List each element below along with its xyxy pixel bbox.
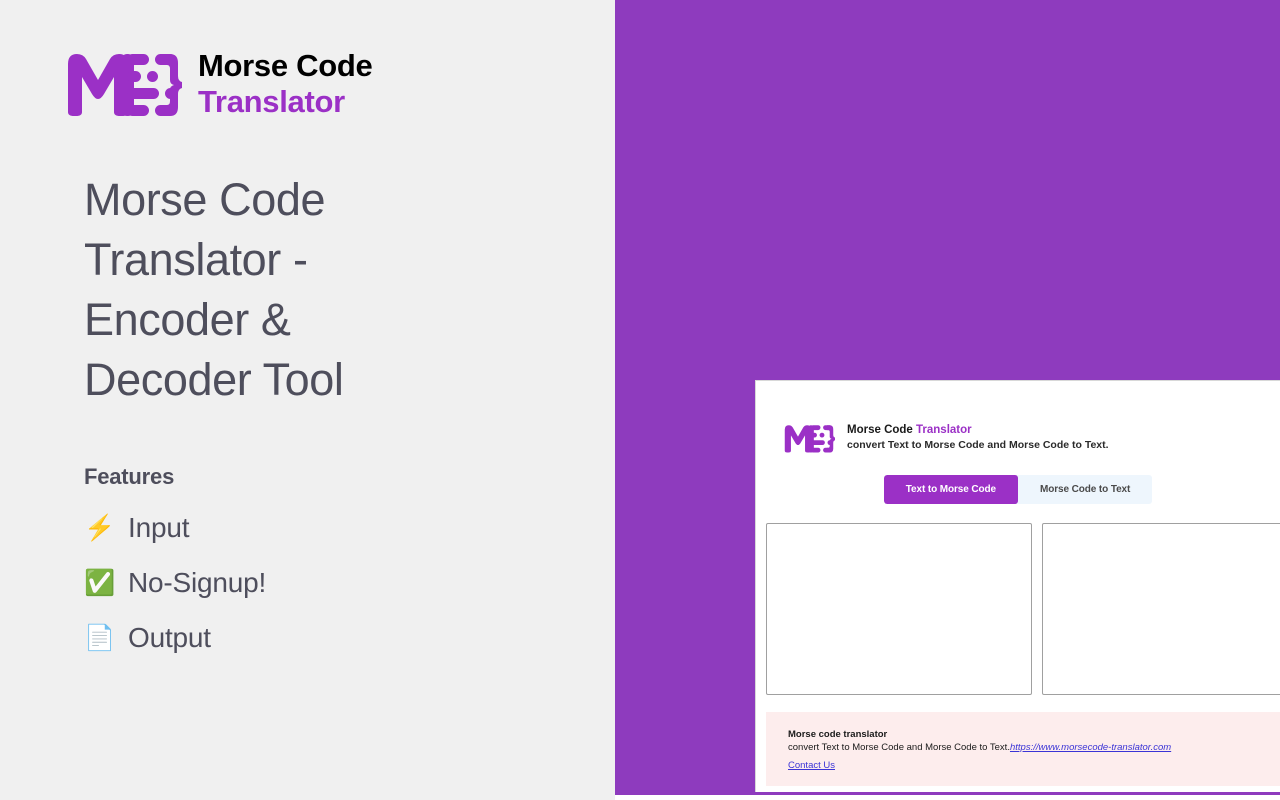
footer-description-text: convert Text to Morse Code and Morse Cod… — [788, 742, 1010, 753]
morse-output-textarea[interactable] — [1042, 523, 1280, 695]
page-title: Morse Code Translator - Encoder & Decode… — [84, 170, 444, 409]
app-preview-tab-bar: Text to Morse Code Morse Code to Text — [756, 475, 1280, 504]
app-preview-titles: Morse Code Translator convert Text to Mo… — [847, 424, 1109, 452]
page-root: Morse Code Translator Morse Code Transla… — [0, 0, 1280, 800]
feature-label-input: Input — [128, 512, 189, 544]
morse-code-logo-icon — [64, 50, 182, 116]
left-content-panel: Morse Code Translator Morse Code Transla… — [0, 0, 615, 800]
brand-line-2: Translator — [198, 84, 372, 120]
feature-item-no-signup: ✅ No-Signup! — [84, 567, 514, 599]
feature-item-input: ⚡ Input — [84, 512, 514, 544]
tab-text-to-morse-code[interactable]: Text to Morse Code — [884, 475, 1018, 504]
tab-morse-code-to-text[interactable]: Morse Code to Text — [1018, 475, 1152, 504]
features-section: Features ⚡ Input ✅ No-Signup! 📄 Output — [84, 464, 514, 677]
app-preview-title: Morse Code Translator — [847, 424, 1109, 437]
morse-code-logo-icon — [783, 422, 835, 454]
tab-group: Text to Morse Code Morse Code to Text — [884, 475, 1153, 504]
app-preview-header: Morse Code Translator convert Text to Mo… — [756, 381, 1280, 454]
footer-description: convert Text to Morse Code and Morse Cod… — [788, 742, 1280, 755]
app-preview-card: Morse Code Translator convert Text to Mo… — [755, 380, 1280, 792]
lightning-bolt-icon: ⚡ — [84, 516, 114, 541]
footer-url-link[interactable]: https://www.morsecode-translator.com — [1010, 742, 1171, 753]
feature-item-output: 📄 Output — [84, 622, 514, 654]
app-title-main: Morse Code — [847, 424, 916, 436]
brand-wordmark: Morse Code Translator — [198, 46, 372, 119]
app-preview-footer: Morse code translator convert Text to Mo… — [766, 712, 1280, 786]
feature-label-no-signup: No-Signup! — [128, 567, 266, 599]
contact-us-link[interactable]: Contact Us — [788, 760, 835, 773]
right-showcase-panel: Morse Code Translator convert Text to Mo… — [615, 0, 1280, 800]
brand-header: Morse Code Translator — [64, 46, 372, 119]
app-preview-io-row — [756, 504, 1280, 695]
text-input-textarea[interactable] — [766, 523, 1032, 695]
check-mark-button-icon: ✅ — [84, 571, 114, 596]
feature-label-output: Output — [128, 622, 211, 654]
page-facing-up-icon: 📄 — [84, 626, 114, 651]
footer-title: Morse code translator — [788, 729, 1280, 742]
app-title-accent: Translator — [916, 424, 972, 436]
brand-line-1: Morse Code — [198, 48, 372, 84]
app-preview-subtitle: convert Text to Morse Code and Morse Cod… — [847, 439, 1109, 452]
features-heading: Features — [84, 464, 514, 490]
